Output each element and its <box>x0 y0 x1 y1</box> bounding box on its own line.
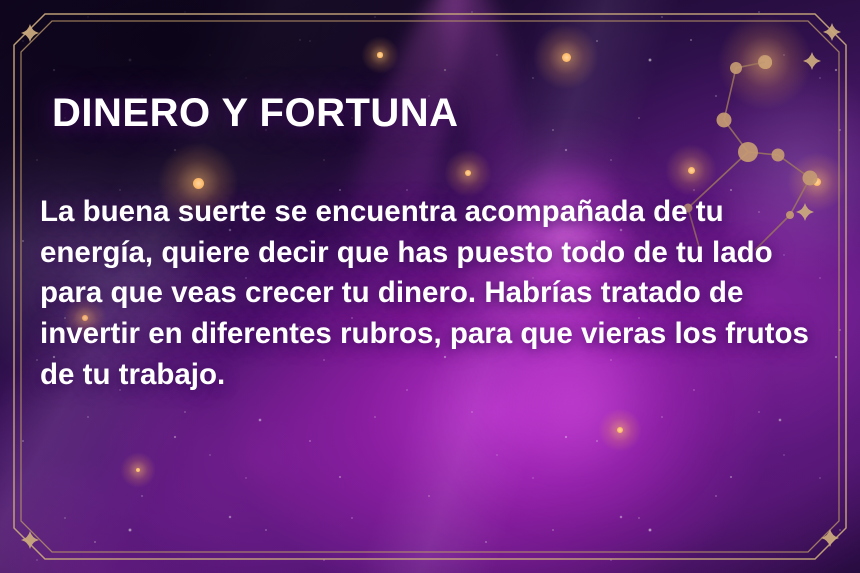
fortune-body-text: La buena suerte se encuentra acompañada … <box>40 192 810 396</box>
card-content: DINERO Y FORTUNA La buena suerte se encu… <box>52 92 812 396</box>
fortune-card: DINERO Y FORTUNA La buena suerte se encu… <box>0 0 860 573</box>
constellation-node <box>730 62 742 74</box>
constellation-node <box>758 55 772 69</box>
page-title: DINERO Y FORTUNA <box>52 92 812 134</box>
